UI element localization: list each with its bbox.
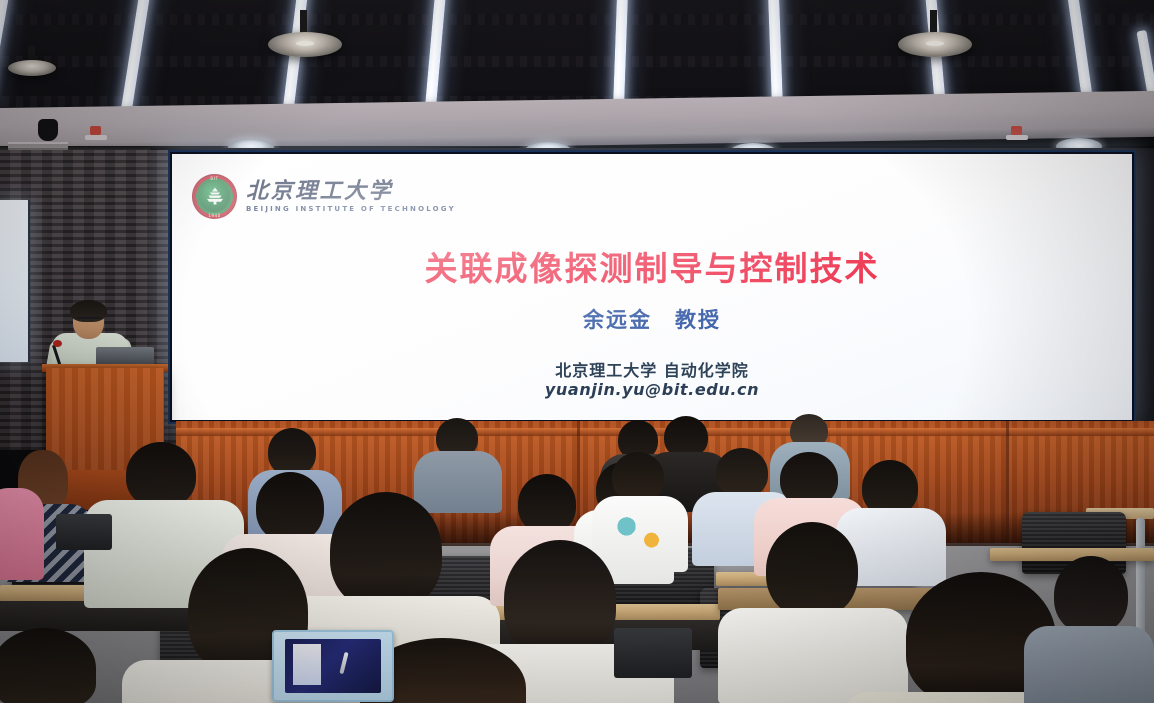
fire-sprinkler-icon (1011, 126, 1022, 135)
slide-speaker-name: 余远金 教授 (172, 304, 1132, 334)
eyeglasses-icon (76, 317, 101, 325)
pendant-light-small (8, 60, 56, 76)
slide-affiliation: 北京理工大学 自动化学院 (172, 357, 1132, 381)
sprinkler-base (85, 135, 107, 140)
logo-name-en: BEIJING INSTITUTE OF TECHNOLOGY (246, 206, 456, 213)
sprinkler-base (1006, 135, 1028, 140)
pendant-light (898, 32, 972, 57)
lecture-hall-photo: BIT 1940 北京理工大学 BEIJING INSTITUTE OF TEC… (0, 0, 1154, 703)
pendant-light (268, 32, 342, 57)
audience-laptop[interactable] (56, 514, 112, 550)
slide-title: 关联成像探测制导与控制技术 (172, 242, 1132, 290)
audience-laptop[interactable] (614, 628, 692, 678)
security-camera-icon (38, 119, 58, 141)
presentation-slide: BIT 1940 北京理工大学 BEIJING INSTITUTE OF TEC… (172, 154, 1132, 420)
slide-email: yuanjin.yu@bit.edu.cn (172, 380, 1132, 399)
audience-desk (990, 548, 1154, 561)
bit-seal-logo-icon: BIT 1940 (192, 174, 237, 219)
fire-sprinkler-icon (90, 126, 101, 135)
slide-logo: BIT 1940 北京理工大学 BEIJING INSTITUTE OF TEC… (192, 174, 456, 219)
microphone-icon (53, 340, 62, 347)
pagoda-tower-icon (205, 187, 225, 204)
wall-monitor (0, 200, 30, 362)
pendant-rod (930, 10, 937, 34)
seal-text-bottom: 1940 (192, 213, 237, 218)
tablet-screen-highlight (293, 644, 321, 685)
mobile-table-leg (1136, 518, 1145, 634)
seal-text-top: BIT (192, 176, 237, 181)
audience-tablet[interactable] (272, 630, 394, 702)
logo-name-cn: 北京理工大学 (246, 181, 456, 203)
logo-wordmark: 北京理工大学 BEIJING INSTITUTE OF TECHNOLOGY (246, 181, 456, 213)
pendant-rod (300, 10, 307, 34)
